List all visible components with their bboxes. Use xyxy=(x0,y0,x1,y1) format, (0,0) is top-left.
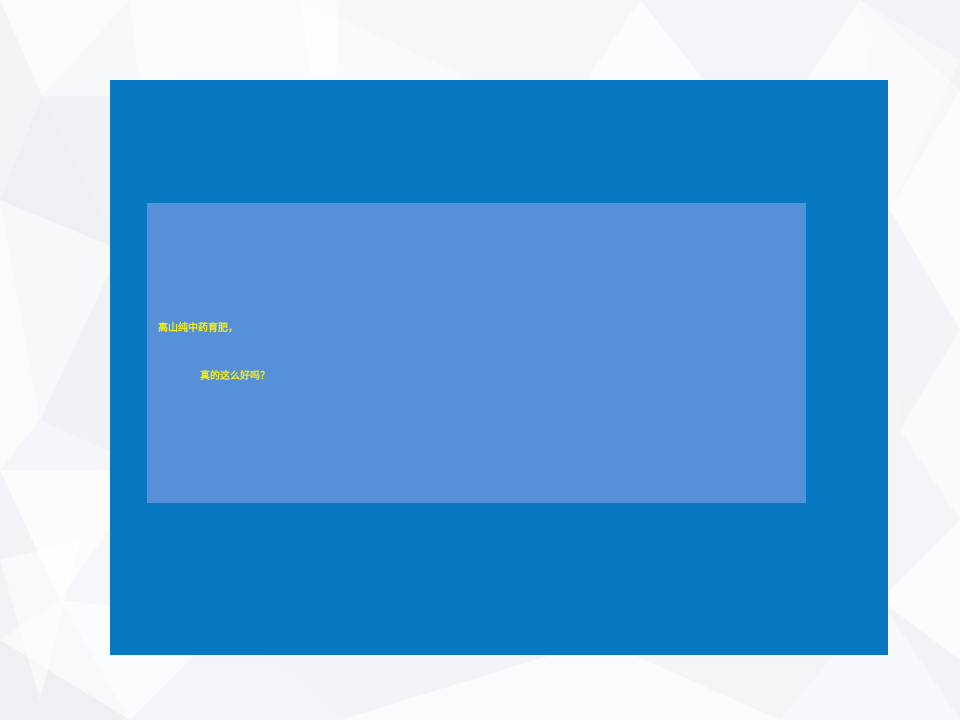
headline-block: 高山纯中药育肥， 真的这么好吗？ xyxy=(147,203,806,503)
blue-background-slab: 高山纯中药育肥， 真的这么好吗？ xyxy=(110,80,888,655)
headline-line-1: 高山纯中药育肥， xyxy=(147,324,806,334)
title-panel: 高山纯中药育肥， 真的这么好吗？ xyxy=(147,203,806,503)
headline-line-2: 真的这么好吗？ xyxy=(147,372,806,382)
presentation-slide: 高山纯中药育肥， 真的这么好吗？ xyxy=(0,0,960,720)
